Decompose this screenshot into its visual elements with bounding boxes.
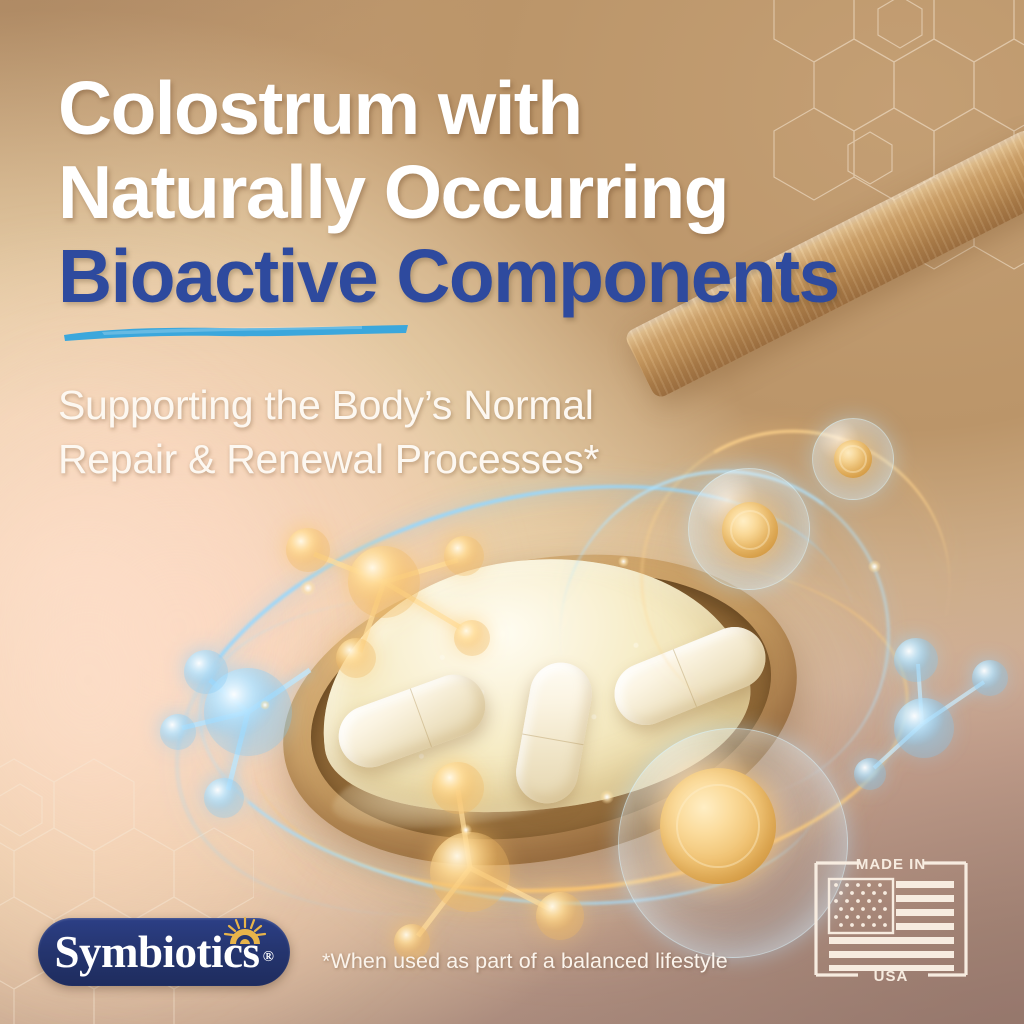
headline-line-3-accent: Bioactive Components	[58, 234, 958, 318]
sparkle	[600, 790, 614, 804]
headline-line-1: Colostrum with	[58, 66, 958, 150]
subheadline-block: Supporting the Body’s Normal Repair & Re…	[58, 378, 818, 486]
brush-underline-icon	[62, 322, 410, 342]
subheadline-line-1: Supporting the Body’s Normal	[58, 378, 818, 432]
sparkle	[618, 556, 629, 567]
badge-top-label: MADE IN	[856, 856, 926, 873]
disclaimer-text: *When used as part of a balanced lifesty…	[322, 949, 728, 974]
headline-block: Colostrum with Naturally Occurring Bioac…	[58, 66, 958, 318]
registered-trademark-symbol: ®	[263, 950, 274, 965]
cell-nucleus	[722, 502, 778, 558]
product-banner: Colostrum with Naturally Occurring Bioac…	[0, 0, 1024, 1024]
sparkle	[300, 580, 316, 596]
sparkle	[460, 824, 472, 836]
sunburst-icon	[222, 916, 268, 946]
cell-nucleus	[660, 768, 776, 884]
sparkle	[868, 560, 881, 573]
made-in-usa-badge: MADE IN USA	[812, 855, 970, 983]
symbiotics-logo[interactable]: Symbiotics ®	[38, 918, 290, 986]
logo-wordmark: Symbiotics ®	[54, 930, 273, 975]
sparkle	[260, 700, 270, 710]
subheadline-line-2: Repair & Renewal Processes*	[58, 432, 818, 486]
usa-flag-icon	[829, 879, 954, 971]
cell-nucleus	[834, 440, 872, 478]
molecule-blue-right-icon	[856, 628, 1016, 808]
headline-line-2: Naturally Occurring	[58, 150, 958, 234]
